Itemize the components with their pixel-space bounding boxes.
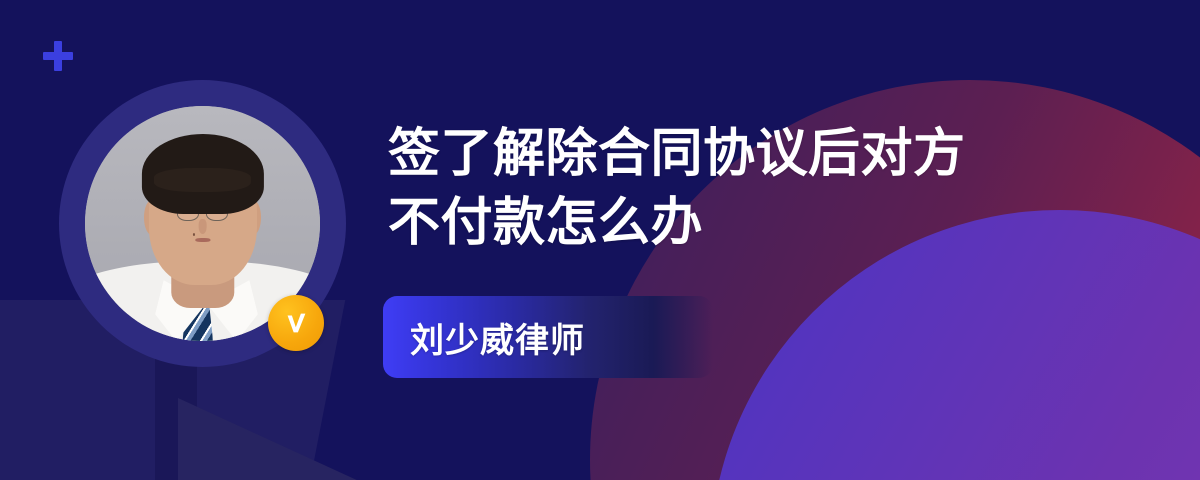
banner-root: 签了解除合同协议后对方 不付款怎么办 刘少威律师 [0, 0, 1200, 480]
portrait-nose [198, 219, 207, 234]
portrait-mole [193, 233, 195, 236]
page-title: 签了解除合同协议后对方 不付款怎么办 [388, 120, 1088, 258]
polygon-shape-lower [178, 398, 518, 480]
plus-icon [43, 41, 73, 71]
portrait-mouth [195, 238, 210, 242]
lawyer-name-badge[interactable]: 刘少威律师 [383, 296, 713, 378]
plus-icon-bar-vertical [54, 41, 62, 71]
headline-block: 签了解除合同协议后对方 不付款怎么办 [388, 120, 1088, 258]
verified-v-icon[interactable] [268, 295, 324, 351]
avatar[interactable] [59, 80, 346, 367]
lawyer-name-label: 刘少威律师 [410, 313, 585, 362]
portrait-hair [141, 134, 263, 214]
